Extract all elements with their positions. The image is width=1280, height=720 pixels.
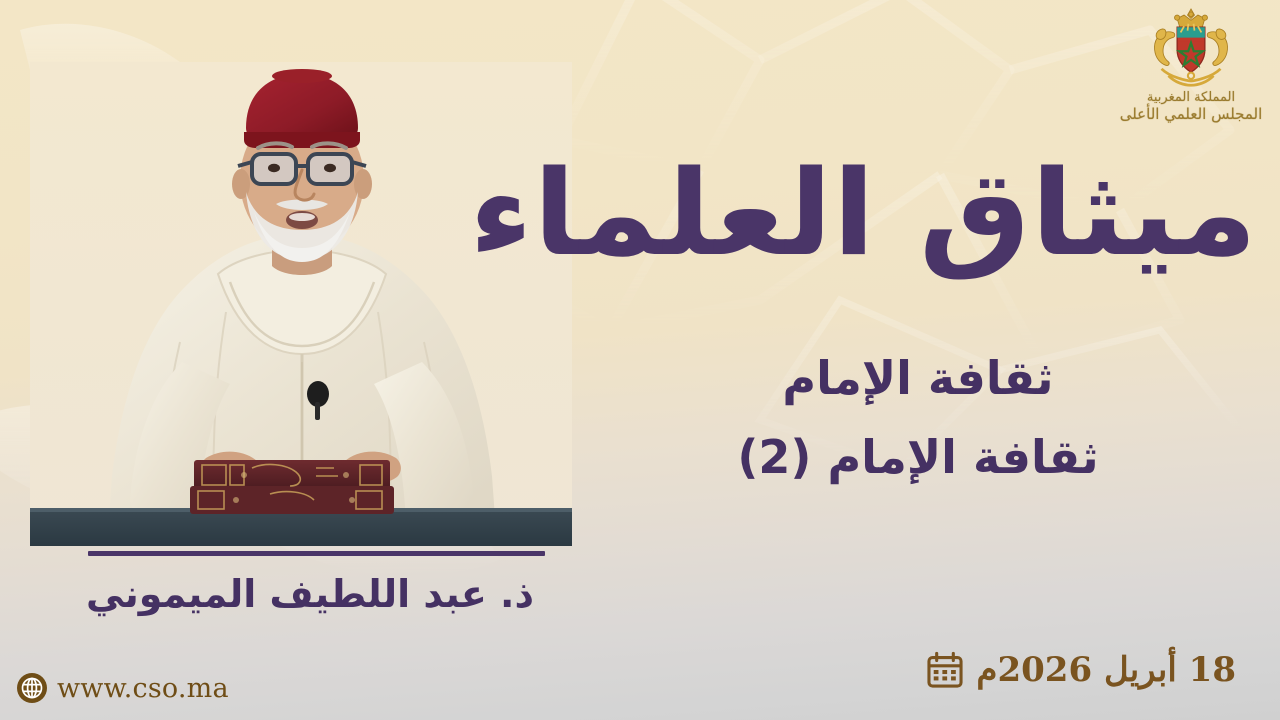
slide-canvas: المملكة المغربية المجلس العلمي الأعلى	[0, 0, 1280, 720]
page-title: ميثاق العلماء	[579, 152, 1257, 276]
episode-subtitles: ثقافة الإمام ثقافة الإمام (2)	[598, 348, 1238, 487]
broadcast-date: 18 أبريل 2026م	[926, 650, 1236, 690]
logo-council-label: المجلس العلمي الأعلى	[1120, 107, 1263, 123]
date-label: 18 أبريل 2026م	[976, 650, 1236, 690]
logo-kingdom-label: المملكة المغربية	[1147, 91, 1235, 105]
website-footer[interactable]: www.cso.ma	[16, 672, 229, 704]
speaker-name: ذ. عبد اللطيف الميموني	[0, 572, 620, 616]
photo-divider-line	[88, 551, 545, 556]
globe-icon	[16, 672, 48, 704]
calendar-icon	[926, 651, 964, 689]
moroccan-coat-of-arms-icon	[1139, 6, 1243, 90]
official-logo: المملكة المغربية المجلس العلمي الأعلى	[1116, 6, 1266, 136]
speaker-photo	[30, 62, 572, 546]
website-url: www.cso.ma	[57, 673, 229, 704]
episode-subtitle-2: ثقافة الإمام (2)	[598, 427, 1238, 488]
episode-subtitle-1: ثقافة الإمام	[598, 348, 1238, 409]
